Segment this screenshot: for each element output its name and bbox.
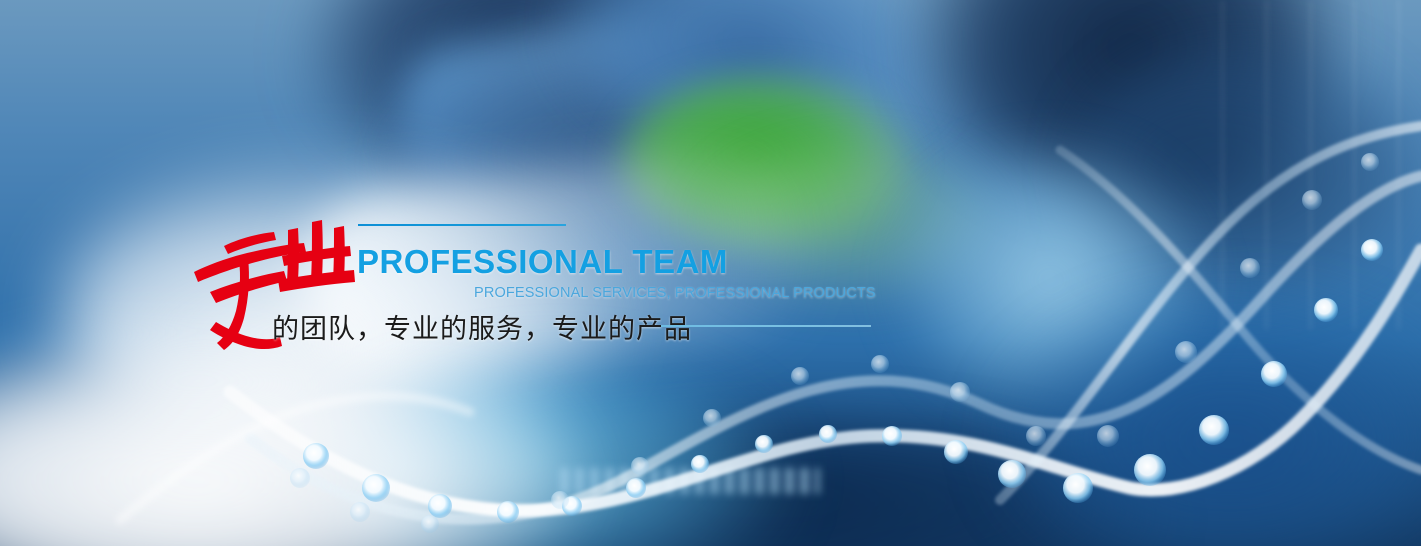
promotional-banner: PROFESSIONAL TEAM PROFESSIONAL SERVICES,… <box>0 0 1421 546</box>
decorative-rule-top <box>358 224 566 226</box>
decorative-rule-bottom <box>661 325 871 327</box>
chinese-tagline: 的团队，专业的服务，专业的产品 <box>272 307 692 346</box>
page-subtitle: PROFESSIONAL SERVICES, PROFESSIONAL PROD… <box>474 285 876 301</box>
banner-text-lockup: PROFESSIONAL TEAM PROFESSIONAL SERVICES,… <box>0 0 1421 546</box>
page-title: PROFESSIONAL TEAM <box>357 243 728 281</box>
